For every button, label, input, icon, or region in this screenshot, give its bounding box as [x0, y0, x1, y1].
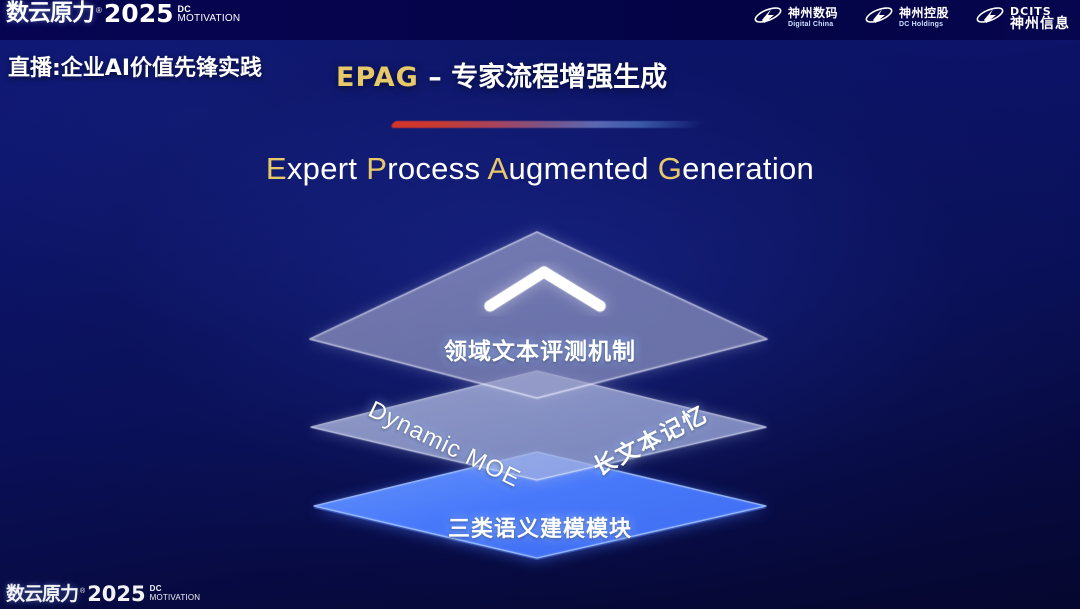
watermark-cn: 数云原力: [6, 584, 78, 605]
watermark-dc-motivation: DC MOTIVATION: [150, 584, 201, 602]
watermark-year: 2025: [87, 584, 145, 605]
watermark-dc: DC: [150, 584, 201, 593]
watermark-registered: ®: [80, 586, 85, 598]
watermark-logo: 数云原力 ® 2025 DC MOTIVATION: [6, 1, 1070, 605]
watermark-motivation: MOTIVATION: [150, 593, 201, 602]
slide-canvas: 数云原力 ® 2025 DC MOTIVATION 神州数码 Digital C…: [0, 0, 1080, 609]
